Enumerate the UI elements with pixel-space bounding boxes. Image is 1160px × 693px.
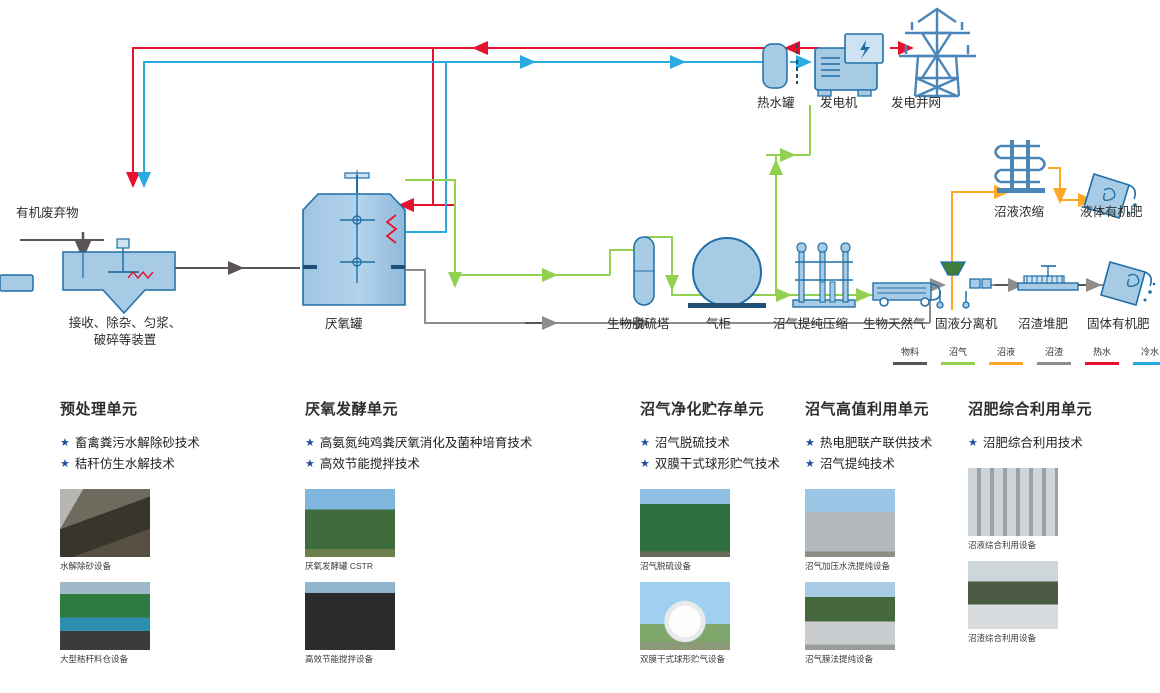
photo-block: 沼气脱硫设备 <box>640 489 780 572</box>
photo-caption: 高效节能搅拌设备 <box>305 653 532 665</box>
legend-item: 沼液 <box>989 345 1023 365</box>
unit-photo-list: 沼液综合利用设备沼渣综合利用设备 <box>968 468 1092 644</box>
photo-caption: 沼气脱硫设备 <box>640 560 780 572</box>
unit-bullet-label: 高氨氮纯鸡粪厌氧消化及菌种培育技术 <box>320 433 533 454</box>
unit-bullet: ★畜禽粪污水解除砂技术 <box>60 433 200 454</box>
star-icon: ★ <box>305 433 315 454</box>
unit-bullet-list: ★高氨氮纯鸡粪厌氧消化及菌种培育技术★高效节能搅拌技术 <box>305 433 532 475</box>
flow-label-hotwater-tank: 热水罐 <box>757 92 795 111</box>
unit-photo-list: 厌氧发酵罐 CSTR高效节能搅拌设备 <box>305 489 532 665</box>
unit-photo-list: 沼气脱硫设备双膜干式球形贮气设备 <box>640 489 780 665</box>
equipment-concentrator <box>996 140 1046 193</box>
photo-caption: 沼气膜法提纯设备 <box>805 653 932 665</box>
unit-bullet-list: ★沼气脱硫技术★双膜干式球形贮气技术 <box>640 433 780 475</box>
photo-block: 沼气加压水洗提纯设备 <box>805 489 932 572</box>
flow-label-purification: 沼气提纯压缩 <box>773 313 848 332</box>
star-icon: ★ <box>640 454 650 475</box>
flow-label-liquid-fertilizer: 液体有机肥 <box>1080 201 1143 220</box>
flow-label-pretreatment-line2: 破碎等装置 <box>94 333 157 347</box>
unit-title: 厌氧发酵单元 <box>305 398 532 419</box>
legend-item: 热水 <box>1085 345 1119 365</box>
unit-bullet: ★双膜干式球形贮气技术 <box>640 454 780 475</box>
unit-bullet-label: 畜禽粪污水解除砂技术 <box>75 433 200 454</box>
equipment-photo <box>805 582 895 650</box>
unit-bullet-list: ★热电肥联产联供技术★沼气提纯技术 <box>805 433 932 475</box>
equipment-photo <box>640 582 730 650</box>
star-icon: ★ <box>60 433 70 454</box>
flow-label-bng: 生物天然气 <box>863 313 926 332</box>
legend-swatch <box>1037 362 1071 365</box>
flow-label-input: 有机废弃物 <box>16 202 79 221</box>
photo-block: 厌氧发酵罐 CSTR <box>305 489 532 572</box>
photo-caption: 沼液综合利用设备 <box>968 539 1092 551</box>
photo-block: 高效节能搅拌设备 <box>305 582 532 665</box>
flow-label-solid-fertilizer: 固体有机肥 <box>1087 313 1150 332</box>
equipment-compost-belt <box>1018 266 1078 290</box>
equipment-purification-skid <box>793 243 855 307</box>
photo-block: 沼气膜法提纯设备 <box>805 582 932 665</box>
unit-bullet-label: 热电肥联产联供技术 <box>820 433 933 454</box>
photo-caption: 沼渣综合利用设备 <box>968 632 1092 644</box>
photo-caption: 沼气加压水洗提纯设备 <box>805 560 932 572</box>
unit-bullet: ★高效节能搅拌技术 <box>305 454 532 475</box>
equipment-photo <box>305 582 395 650</box>
legend-label: 物料 <box>901 345 919 358</box>
legend-label: 热水 <box>1093 345 1111 358</box>
equipment-pretreatment <box>63 239 175 313</box>
unit-bullet-list: ★畜禽粪污水解除砂技术★秸秆仿生水解技术 <box>60 433 200 475</box>
photo-caption: 厌氧发酵罐 CSTR <box>305 560 532 572</box>
unit-photo-list: 沼气加压水洗提纯设备沼气膜法提纯设备 <box>805 489 932 665</box>
legend-label: 沼渣 <box>1045 345 1063 358</box>
star-icon: ★ <box>805 433 815 454</box>
legend-swatch <box>941 362 975 365</box>
star-icon: ★ <box>968 433 978 454</box>
unit-bullet-list: ★沼肥综合利用技术 <box>968 433 1092 454</box>
flow-label-desulfurization: 生物脱硫塔 <box>607 313 670 332</box>
unit-title: 沼气净化贮存单元 <box>640 398 780 419</box>
star-icon: ★ <box>805 454 815 475</box>
unit-title: 预处理单元 <box>60 398 200 419</box>
legend-label: 沼气 <box>949 345 967 358</box>
unit-title: 沼气高值利用单元 <box>805 398 932 419</box>
equipment-generator <box>815 34 883 96</box>
unit-column: 沼气高值利用单元★热电肥联产联供技术★沼气提纯技术沼气加压水洗提纯设备沼气膜法提… <box>805 398 932 675</box>
legend-item: 沼渣 <box>1037 345 1071 365</box>
legend-swatch <box>893 362 927 365</box>
unit-bullet-label: 沼气脱硫技术 <box>655 433 730 454</box>
legend-swatch <box>989 362 1023 365</box>
unit-column: 沼肥综合利用单元★沼肥综合利用技术沼液综合利用设备沼渣综合利用设备 <box>968 398 1092 654</box>
legend-swatch <box>1133 362 1160 365</box>
unit-bullet: ★高氨氮纯鸡粪厌氧消化及菌种培育技术 <box>305 433 532 454</box>
unit-bullet-label: 沼气提纯技术 <box>820 454 895 475</box>
star-icon: ★ <box>305 454 315 475</box>
unit-column: 厌氧发酵单元★高氨氮纯鸡粪厌氧消化及菌种培育技术★高效节能搅拌技术厌氧发酵罐 C… <box>305 398 532 675</box>
photo-block: 大型秸秆料仓设备 <box>60 582 200 665</box>
flow-label-compost: 沼渣堆肥 <box>1018 313 1068 332</box>
legend-swatch <box>1085 362 1119 365</box>
equipment-desulfurization-tower <box>634 237 654 305</box>
photo-caption: 双膜干式球形贮气设备 <box>640 653 780 665</box>
photo-block: 沼液综合利用设备 <box>968 468 1092 551</box>
flow-label-generator: 发电机 <box>820 92 858 111</box>
equipment-gas-holder <box>688 238 766 308</box>
unit-bullet-label: 双膜干式球形贮气技术 <box>655 454 780 475</box>
photo-caption: 水解除砂设备 <box>60 560 200 572</box>
process-flow-diagram: 有机废弃物 接收、除杂、匀浆、 破碎等装置 厌氧罐 生物脱硫塔 气柜 沼气提纯压… <box>0 0 1160 380</box>
star-icon: ★ <box>60 454 70 475</box>
unit-bullet: ★沼气脱硫技术 <box>640 433 780 454</box>
flow-label-grid: 发电并网 <box>891 92 941 111</box>
flow-label-separator: 固液分离机 <box>935 313 998 332</box>
flow-label-pretreatment-line1: 接收、除杂、匀浆、 <box>69 316 182 330</box>
photo-caption: 大型秸秆料仓设备 <box>60 653 200 665</box>
equipment-power-pylon <box>899 9 976 96</box>
equipment-hotwater-tank <box>763 44 797 88</box>
flow-label-digester: 厌氧罐 <box>325 313 363 332</box>
star-icon: ★ <box>640 433 650 454</box>
unit-title: 沼肥综合利用单元 <box>968 398 1092 419</box>
pipe-coldwater <box>144 62 780 232</box>
equipment-digester <box>303 170 405 305</box>
legend-label: 冷水 <box>1141 345 1159 358</box>
legend-label: 沼液 <box>997 345 1015 358</box>
unit-bullet-label: 高效节能搅拌技术 <box>320 454 420 475</box>
unit-column: 沼气净化贮存单元★沼气脱硫技术★双膜干式球形贮气技术沼气脱硫设备双膜干式球形贮气… <box>640 398 780 675</box>
legend: 物料沼气沼液沼渣热水冷水 <box>893 345 1160 365</box>
equipment-photo <box>640 489 730 557</box>
unit-bullet-label: 沼肥综合利用技术 <box>983 433 1083 454</box>
photo-block: 沼渣综合利用设备 <box>968 561 1092 644</box>
legend-item: 物料 <box>893 345 927 365</box>
unit-photo-list: 水解除砂设备大型秸秆料仓设备 <box>60 489 200 665</box>
pipe-hotwater <box>133 48 766 205</box>
equipment-photo <box>968 468 1058 536</box>
unit-bullet: ★沼肥综合利用技术 <box>968 433 1092 454</box>
legend-item: 冷水 <box>1133 345 1160 365</box>
equipment-photo <box>968 561 1058 629</box>
unit-bullet-label: 秸秆仿生水解技术 <box>75 454 175 475</box>
unit-bullet: ★秸秆仿生水解技术 <box>60 454 200 475</box>
photo-block: 水解除砂设备 <box>60 489 200 572</box>
flow-label-gas-holder: 气柜 <box>706 313 731 332</box>
equipment-photo <box>305 489 395 557</box>
flow-label-concentrator: 沼液浓缩 <box>994 201 1044 220</box>
unit-column: 预处理单元★畜禽粪污水解除砂技术★秸秆仿生水解技术水解除砂设备大型秸秆料仓设备 <box>60 398 200 675</box>
photo-block: 双膜干式球形贮气设备 <box>640 582 780 665</box>
equipment-photo <box>60 489 150 557</box>
legend-item: 沼气 <box>941 345 975 365</box>
equipment-solid-fertilizer-bag <box>1101 262 1155 305</box>
unit-bullet: ★热电肥联产联供技术 <box>805 433 932 454</box>
equipment-photo <box>805 489 895 557</box>
unit-bullet: ★沼气提纯技术 <box>805 454 932 475</box>
equipment-photo <box>60 582 150 650</box>
